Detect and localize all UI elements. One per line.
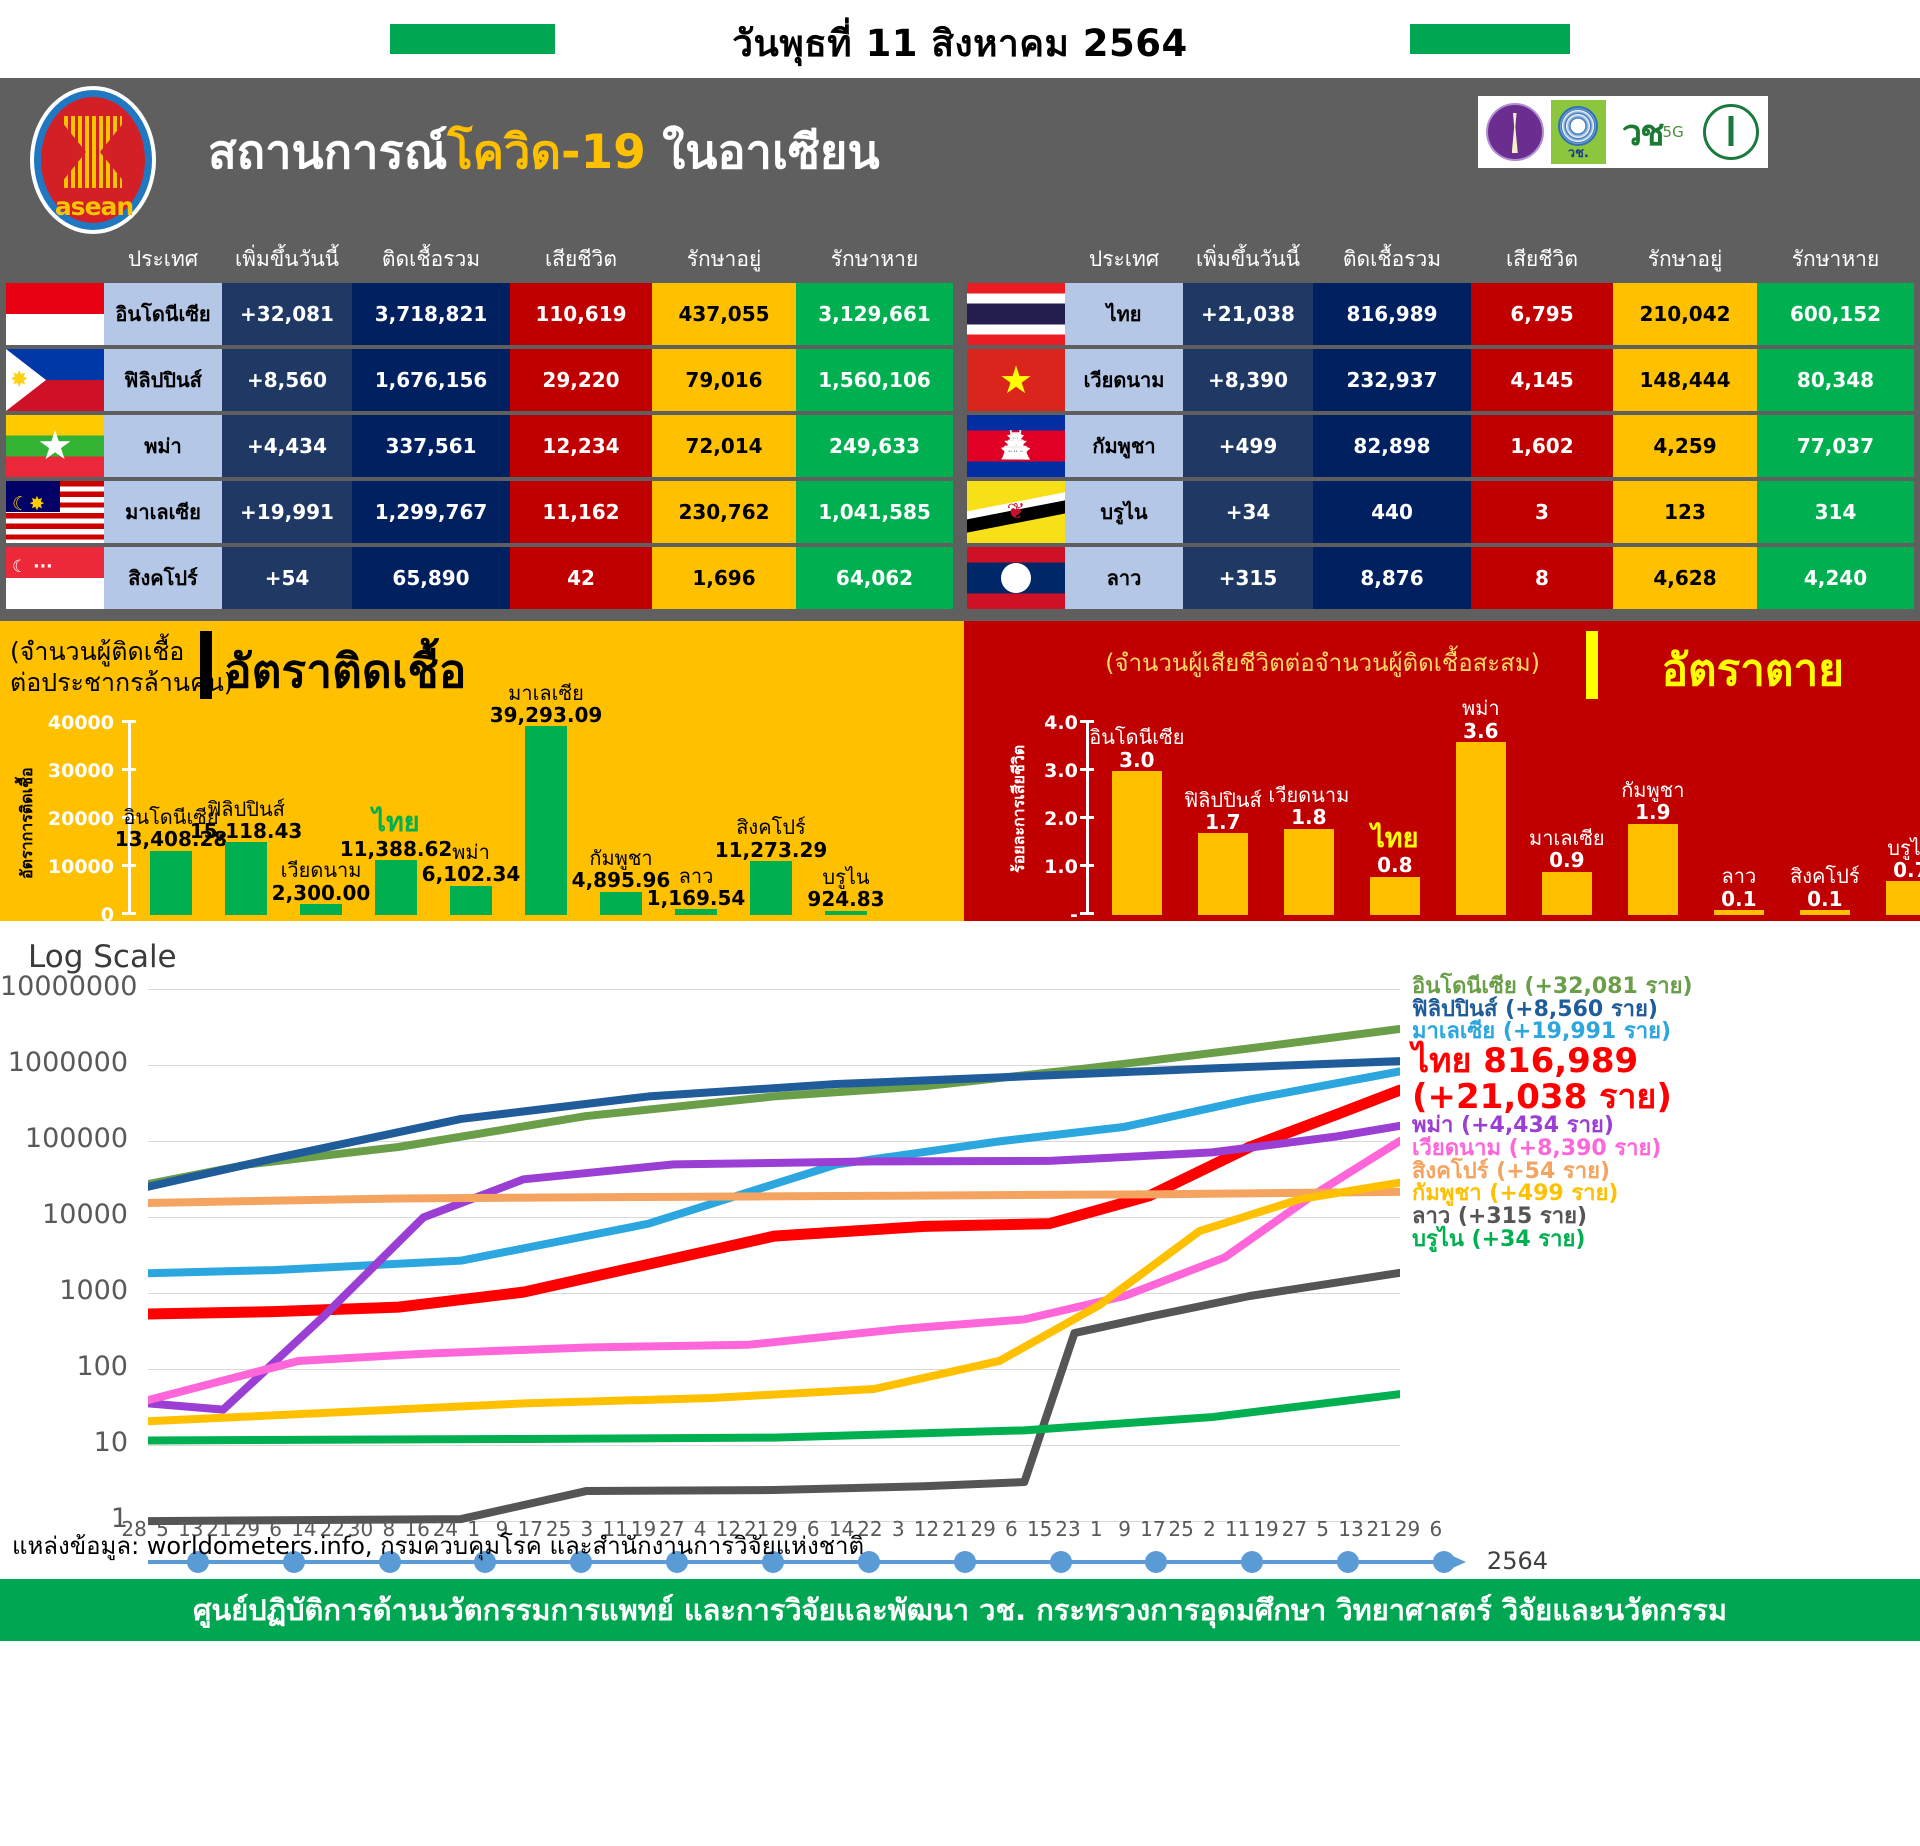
table-row: อินโดนีเซีย+32,0813,718,821110,619437,05… xyxy=(6,283,953,345)
cell-country: เวียดนาม xyxy=(1065,349,1183,411)
country-flag-icon xyxy=(967,415,1065,477)
legend-label: ลาว (+315 ราย) xyxy=(1412,1206,1587,1229)
x-tick-label: 1 xyxy=(1090,1517,1103,1541)
timeline-dot xyxy=(1337,1551,1359,1573)
bar-10: บรูไน0.7 xyxy=(1886,881,1920,915)
legend-label-2: (+21,038 ราย) xyxy=(1412,1080,1672,1116)
bar-rect xyxy=(225,842,267,915)
x-tick-label: 27 xyxy=(1282,1517,1307,1541)
col-flag-left xyxy=(6,276,104,279)
bar-value: 0.1 xyxy=(1721,887,1756,911)
table-row: มาเลเซีย+19,9911,299,76711,162230,7621,0… xyxy=(6,481,953,543)
log-y-tick-label: 10000 xyxy=(0,1199,128,1230)
table-row: สิงคโปร์+5465,890421,69664,062 xyxy=(6,547,953,609)
top-strip: วันพุธที่ 11 สิงหาคม 2564 xyxy=(0,0,1920,78)
bar-value: 11,273.29 xyxy=(715,838,828,862)
country-flag-icon xyxy=(967,349,1065,411)
col-total-left: ติดเชื้อรวม xyxy=(352,243,510,279)
bar-country-name: กัมพูชา xyxy=(1621,779,1684,801)
vch-5g-logo-icon: วช5G xyxy=(1610,100,1695,164)
bar-country-name: ลาว xyxy=(647,865,746,887)
cell-country: บรูไน xyxy=(1065,481,1183,543)
log-chart-legend: อินโดนีเซีย (+32,081 ราย)ฟิลิปปินส์ (+8,… xyxy=(1412,976,1912,1251)
x-tick-label: 25 xyxy=(1168,1517,1193,1541)
bar-5: พม่า6,102.34 xyxy=(450,886,492,915)
table-header-row-left: ประเทศ เพิ่มขึ้นวันนี้ ติดเชื้อรวม เสียช… xyxy=(6,243,953,279)
bar-3: เวียดนาม1.8 xyxy=(1284,829,1334,915)
bar-label: พม่า3.6 xyxy=(1462,697,1500,742)
ddc-moph-logo-icon xyxy=(1699,100,1763,164)
infection-title-accent xyxy=(200,631,212,699)
bar-rect xyxy=(1456,742,1506,915)
cell-active: 210,042 xyxy=(1613,283,1757,345)
legend-item: สิงคโปร์ (+54 ราย) xyxy=(1412,1161,1912,1184)
x-tick-label: 11 xyxy=(1225,1517,1250,1541)
stats-table-left: ประเทศ เพิ่มขึ้นวันนี้ ติดเชื้อรวม เสียช… xyxy=(6,243,953,609)
col-deaths-right: เสียชีวิต xyxy=(1471,243,1613,279)
source-note: แหล่งข้อมูล: worldometers.info, กรมควบคุ… xyxy=(12,1526,864,1565)
bar-label: ไทย0.8 xyxy=(1371,824,1418,877)
log-y-tick-label: 100000 xyxy=(0,1123,128,1154)
cell-new-cases: +54 xyxy=(222,547,352,609)
col-country-right: ประเทศ xyxy=(1065,243,1183,279)
bar-rect xyxy=(300,904,342,915)
legend-item: บรูไน (+34 ราย) xyxy=(1412,1229,1912,1252)
timeline-dot xyxy=(954,1551,976,1573)
cell-new-cases: +32,081 xyxy=(222,283,352,345)
bar-label: อินโดนีเซีย3.0 xyxy=(1089,726,1184,771)
bar-label: ฟิลิปปินส์15,118.43 xyxy=(190,798,303,843)
cell-recovered: 77,037 xyxy=(1757,415,1914,477)
country-flag-icon xyxy=(6,283,104,345)
bar-rect xyxy=(1628,824,1678,915)
bar-country-name: เวียดนาม xyxy=(272,859,371,881)
bar-country-name: พม่า xyxy=(422,841,521,863)
x-tick-label: 19 xyxy=(1253,1517,1278,1541)
country-flag-icon xyxy=(6,547,104,609)
cell-recovered: 1,041,585 xyxy=(796,481,953,543)
series-line-สิงคโปร์ xyxy=(148,1192,1400,1203)
bar-label: ลาว0.1 xyxy=(1721,865,1756,910)
x-tick-label: 3 xyxy=(892,1517,905,1541)
col-total-right: ติดเชื้อรวม xyxy=(1313,243,1471,279)
cell-total-cases: 82,898 xyxy=(1313,415,1471,477)
cell-deaths: 3 xyxy=(1471,481,1613,543)
bar-5: พม่า3.6 xyxy=(1456,742,1506,915)
x-tick-label: 21 xyxy=(1367,1517,1392,1541)
x-tick-label: 23 xyxy=(1055,1517,1080,1541)
bar-value: 0.8 xyxy=(1377,853,1412,877)
cell-active: 437,055 xyxy=(652,283,796,345)
infection-rate-title: อัตราติดเชื้อ xyxy=(224,635,466,708)
cell-total-cases: 1,676,156 xyxy=(352,349,510,411)
header-bar: asean สถานการณ์โควิด-19 ในอาเซียน วช. วช… xyxy=(0,78,1920,243)
page-title-highlight: โควิด-19 xyxy=(447,125,646,180)
col-country-left: ประเทศ xyxy=(104,243,222,279)
legend-item: ฟิลิปปินส์ (+8,560 ราย) xyxy=(1412,999,1912,1022)
bar-rect xyxy=(825,911,867,915)
cell-active: 4,628 xyxy=(1613,547,1757,609)
cell-active: 148,444 xyxy=(1613,349,1757,411)
vch-logo-5g: 5G xyxy=(1663,123,1684,141)
cell-active: 4,259 xyxy=(1613,415,1757,477)
bar-rect xyxy=(1370,877,1420,915)
cell-country: มาเลเซีย xyxy=(104,481,222,543)
bar-rect xyxy=(450,886,492,915)
bar-label: มาเลเซีย0.9 xyxy=(1529,827,1605,872)
timeline-dot xyxy=(1145,1551,1167,1573)
col-new-right: เพิ่มขึ้นวันนี้ xyxy=(1183,243,1313,279)
rate-panels: (จำนวนผู้ติดเชื้อต่อประชากรล้านคน) อัตรา… xyxy=(0,621,1920,921)
cumulative-cases-log-chart: Log Scale 100000001000000100000100001000… xyxy=(0,921,1920,1641)
cell-recovered: 314 xyxy=(1757,481,1914,543)
col-deaths-left: เสียชีวิต xyxy=(510,243,652,279)
table-row: พม่า+4,434337,56112,23472,014249,633 xyxy=(6,415,953,477)
legend-label: พม่า (+4,434 ราย) xyxy=(1412,1115,1614,1138)
bar-4: ไทย11,388.62 xyxy=(375,860,417,915)
cell-total-cases: 3,718,821 xyxy=(352,283,510,345)
bar-1: อินโดนีเซีย3.0 xyxy=(1112,771,1162,915)
footer-text: ศูนย์ปฏิบัติการด้านนวัตกรรมการแพทย์ และก… xyxy=(193,1587,1727,1633)
bar-rect xyxy=(375,860,417,915)
bar-10: บรูไน924.83 xyxy=(825,911,867,915)
bar-country-name: อินโดนีเซีย xyxy=(1089,726,1184,748)
x-tick-label: 6 xyxy=(1429,1517,1442,1541)
timeline-year-end: 2564 xyxy=(1487,1547,1548,1575)
cell-deaths: 12,234 xyxy=(510,415,652,477)
bar-value: 0.1 xyxy=(1807,887,1842,911)
bar-value: 15,118.43 xyxy=(190,819,303,843)
legend-item: อินโดนีเซีย (+32,081 ราย) xyxy=(1412,976,1912,999)
bar-value: 1.7 xyxy=(1205,810,1240,834)
col-active-right: รักษาอยู่ xyxy=(1613,243,1757,279)
cell-active: 79,016 xyxy=(652,349,796,411)
cell-total-cases: 8,876 xyxy=(1313,547,1471,609)
x-tick-label: 21 xyxy=(942,1517,967,1541)
cell-deaths: 11,162 xyxy=(510,481,652,543)
bar-label: กัมพูชา1.9 xyxy=(1621,779,1684,824)
bar-rect xyxy=(1886,881,1920,915)
bar-value: 3.6 xyxy=(1463,719,1498,743)
nrct-logo-label: วช. xyxy=(1551,142,1607,163)
table-row: ฟิลิปปินส์+8,5601,676,15629,22079,0161,5… xyxy=(6,349,953,411)
country-flag-icon xyxy=(967,283,1065,345)
bar-label: เวียดนาม1.8 xyxy=(1268,784,1349,829)
cell-country: กัมพูชา xyxy=(1065,415,1183,477)
cell-recovered: 3,129,661 xyxy=(796,283,953,345)
cell-new-cases: +8,560 xyxy=(222,349,352,411)
bar-value: 1.8 xyxy=(1291,805,1326,829)
bar-4: ไทย0.8 xyxy=(1370,877,1420,915)
cell-deaths: 8 xyxy=(1471,547,1613,609)
cell-country: ฟิลิปปินส์ xyxy=(104,349,222,411)
bar-7: กัมพูชา1.9 xyxy=(1628,824,1678,915)
cell-new-cases: +21,038 xyxy=(1183,283,1313,345)
bar-label: บรูไน0.7 xyxy=(1887,837,1920,882)
legend-item: กัมพูชา (+499 ราย) xyxy=(1412,1183,1912,1206)
bar-label: ลาว1,169.54 xyxy=(647,865,746,910)
timeline-dot xyxy=(1050,1551,1072,1573)
cell-country: อินโดนีเซีย xyxy=(104,283,222,345)
cell-recovered: 4,240 xyxy=(1757,547,1914,609)
x-tick-label: 9 xyxy=(1118,1517,1131,1541)
cell-deaths: 6,795 xyxy=(1471,283,1613,345)
bar-rect xyxy=(150,851,192,915)
col-flag-right xyxy=(967,276,1065,279)
cell-active: 72,014 xyxy=(652,415,796,477)
timeline-dot xyxy=(1241,1551,1263,1573)
table-row: ลาว+3158,87684,6284,240 xyxy=(967,547,1914,609)
legend-label: เวียดนาม (+8,390 ราย) xyxy=(1412,1138,1661,1161)
page-title-suffix: ในอาเซียน xyxy=(646,125,880,180)
legend-label: ไทย 816,989 xyxy=(1412,1044,1672,1080)
table-row: เวียดนาม+8,390232,9374,145148,44480,348 xyxy=(967,349,1914,411)
bar-6: มาเลเซีย0.9 xyxy=(1542,872,1592,915)
page-title: สถานการณ์โควิด-19 ในอาเซียน xyxy=(208,114,880,189)
bar-value: 39,293.09 xyxy=(490,703,603,727)
bar-7: กัมพูชา4,895.96 xyxy=(600,892,642,916)
bar-value: 924.83 xyxy=(807,887,884,911)
col-recovered-left: รักษาหาย xyxy=(796,243,953,279)
x-tick-label: 5 xyxy=(1316,1517,1329,1541)
cell-active: 230,762 xyxy=(652,481,796,543)
country-flag-icon xyxy=(6,415,104,477)
bar-rect xyxy=(525,726,567,915)
death-rate-subtitle: (จำนวนผู้เสียชีวิตต่อจำนวนผู้ติดเชื้อสะส… xyxy=(1105,643,1540,682)
footer-bar: ศูนย์ปฏิบัติการด้านนวัตกรรมการแพทย์ และก… xyxy=(0,1579,1920,1641)
death-rate-panel: (จำนวนผู้เสียชีวิตต่อจำนวนผู้ติดเชื้อสะส… xyxy=(964,621,1920,921)
bar-value: 0.9 xyxy=(1549,848,1584,872)
table-row: ❦บรูไน+344403123314 xyxy=(967,481,1914,543)
x-tick-label: 13 xyxy=(1338,1517,1363,1541)
legend-label: อินโดนีเซีย (+32,081 ราย) xyxy=(1412,976,1693,999)
bar-rect xyxy=(1284,829,1334,915)
bar-value: 2,300.00 xyxy=(272,881,371,905)
bar-label: สิงคโปร์11,273.29 xyxy=(715,816,828,861)
death-rate-bars: อินโดนีเซีย3.0ฟิลิปปินส์1.7เวียดนาม1.8ไท… xyxy=(964,723,1920,915)
legend-label: บรูไน (+34 ราย) xyxy=(1412,1229,1585,1252)
country-flag-icon xyxy=(6,481,104,543)
bar-rect xyxy=(1800,910,1850,915)
bar-label: เวียดนาม2,300.00 xyxy=(272,859,371,904)
log-y-tick-label: 1000 xyxy=(0,1275,128,1306)
bar-value: 3.0 xyxy=(1119,748,1154,772)
bar-country-name: สิงคโปร์ xyxy=(1790,865,1860,887)
asean-logo-wordmark: asean xyxy=(42,192,146,221)
legend-label: สิงคโปร์ (+54 ราย) xyxy=(1412,1161,1610,1184)
x-tick-label: 29 xyxy=(970,1517,995,1541)
cell-new-cases: +8,390 xyxy=(1183,349,1313,411)
bar-country-name: มาเลเซีย xyxy=(490,682,603,704)
bar-2: ฟิลิปปินส์15,118.43 xyxy=(225,842,267,915)
stats-table-right: ประเทศ เพิ่มขึ้นวันนี้ ติดเชื้อรวม เสียช… xyxy=(967,243,1914,609)
table-row: กัมพูชา+49982,8981,6024,25977,037 xyxy=(967,415,1914,477)
country-flag-icon xyxy=(6,349,104,411)
bar-rect xyxy=(675,909,717,915)
vch-logo-text: วช xyxy=(1622,104,1663,161)
col-new-left: เพิ่มขึ้นวันนี้ xyxy=(222,243,352,279)
table-row: ไทย+21,038816,9896,795210,042600,152 xyxy=(967,283,1914,345)
x-tick-label: 15 xyxy=(1027,1517,1052,1541)
bar-country-name: เวียดนาม xyxy=(1268,784,1349,806)
death-rate-title: อัตราตาย xyxy=(1662,635,1844,705)
bar-country-name: ลาว xyxy=(1721,865,1756,887)
cell-active: 1,696 xyxy=(652,547,796,609)
cell-total-cases: 65,890 xyxy=(352,547,510,609)
bar-rect xyxy=(1112,771,1162,915)
bar-value: 1.9 xyxy=(1635,800,1670,824)
bar-2: ฟิลิปปินส์1.7 xyxy=(1198,833,1248,915)
cell-recovered: 80,348 xyxy=(1757,349,1914,411)
bar-rect xyxy=(1198,833,1248,915)
legend-label: ฟิลิปปินส์ (+8,560 ราย) xyxy=(1412,999,1658,1022)
cell-deaths: 29,220 xyxy=(510,349,652,411)
country-flag-icon xyxy=(967,547,1065,609)
col-recovered-right: รักษาหาย xyxy=(1757,243,1914,279)
bar-3: เวียดนาม2,300.00 xyxy=(300,904,342,915)
cell-deaths: 110,619 xyxy=(510,283,652,345)
death-title-accent xyxy=(1586,631,1598,699)
bar-label: สิงคโปร์0.1 xyxy=(1790,865,1860,910)
bar-label: บรูไน924.83 xyxy=(807,866,884,911)
infection-rate-bars: อินโดนีเซีย13,408.28ฟิลิปปินส์15,118.43เ… xyxy=(0,723,964,915)
legend-item: เวียดนาม (+8,390 ราย) xyxy=(1412,1138,1912,1161)
cell-recovered: 249,633 xyxy=(796,415,953,477)
x-tick-label: 2 xyxy=(1203,1517,1216,1541)
page-title-prefix: สถานการณ์ xyxy=(208,125,447,180)
cell-recovered: 64,062 xyxy=(796,547,953,609)
cell-new-cases: +499 xyxy=(1183,415,1313,477)
bar-label: พม่า6,102.34 xyxy=(422,841,521,886)
series-line-บรูไน xyxy=(148,1394,1400,1440)
bar-country-name: ไทย xyxy=(1371,824,1418,854)
legend-label: กัมพูชา (+499 ราย) xyxy=(1412,1183,1618,1206)
cell-total-cases: 232,937 xyxy=(1313,349,1471,411)
country-flag-icon: ❦ xyxy=(967,481,1065,543)
cell-total-cases: 816,989 xyxy=(1313,283,1471,345)
country-stats-tables: ประเทศ เพิ่มขึ้นวันนี้ ติดเชื้อรวม เสียช… xyxy=(0,243,1920,621)
bar-value: 6,102.34 xyxy=(422,862,521,886)
bar-rect xyxy=(600,892,642,916)
log-y-tick-label: 10 xyxy=(0,1427,128,1458)
cell-country: สิงคโปร์ xyxy=(104,547,222,609)
timeline-dot xyxy=(1433,1551,1455,1573)
infection-rate-panel: (จำนวนผู้ติดเชื้อต่อประชากรล้านคน) อัตรา… xyxy=(0,621,964,921)
bar-country-name: สิงคโปร์ xyxy=(715,816,828,838)
cell-recovered: 600,152 xyxy=(1757,283,1914,345)
asean-logo-icon: asean xyxy=(20,86,168,236)
bar-value: 1,169.54 xyxy=(647,886,746,910)
bar-country-name: บรูไน xyxy=(807,866,884,888)
bar-9: สิงคโปร์0.1 xyxy=(1800,910,1850,915)
legend-item: ลาว (+315 ราย) xyxy=(1412,1206,1912,1229)
bar-9: สิงคโปร์11,273.29 xyxy=(750,861,792,915)
cell-deaths: 4,145 xyxy=(1471,349,1613,411)
page-date-title: วันพุธที่ 11 สิงหาคม 2564 xyxy=(0,14,1920,73)
bar-country-name: ฟิลิปปินส์ xyxy=(1184,789,1262,811)
bar-label: ฟิลิปปินส์1.7 xyxy=(1184,789,1262,834)
cell-active: 123 xyxy=(1613,481,1757,543)
series-line-มาเลเซีย xyxy=(148,1071,1400,1273)
cell-total-cases: 1,299,767 xyxy=(352,481,510,543)
x-tick-label: 12 xyxy=(914,1517,939,1541)
cell-deaths: 42 xyxy=(510,547,652,609)
bar-rect xyxy=(1714,910,1764,915)
x-tick-label: 6 xyxy=(1005,1517,1018,1541)
log-scale-label: Log Scale xyxy=(28,939,177,975)
bar-country-name: มาเลเซีย xyxy=(1529,827,1605,849)
legend-item: ไทย 816,989(+21,038 ราย) xyxy=(1412,1044,1912,1115)
bar-6: มาเลเซีย39,293.09 xyxy=(525,726,567,915)
nrct-logo-icon: วช. xyxy=(1551,100,1607,164)
bar-value: 0.7 xyxy=(1893,858,1920,882)
bar-country-name: บรูไน xyxy=(1887,837,1920,859)
log-y-tick-label: 1000000 xyxy=(0,1047,128,1078)
bar-1: อินโดนีเซีย13,408.28 xyxy=(150,851,192,915)
log-y-tick-label: 100 xyxy=(0,1351,128,1382)
cell-total-cases: 337,561 xyxy=(352,415,510,477)
mahidol-logo-icon xyxy=(1483,100,1547,164)
cell-new-cases: +19,991 xyxy=(222,481,352,543)
cell-new-cases: +315 xyxy=(1183,547,1313,609)
bar-country-name: พม่า xyxy=(1462,697,1500,719)
cell-new-cases: +4,434 xyxy=(222,415,352,477)
cell-country: ไทย xyxy=(1065,283,1183,345)
cell-country: พม่า xyxy=(104,415,222,477)
partner-logos: วช. วช5G xyxy=(1478,96,1768,168)
bar-country-name: ฟิลิปปินส์ xyxy=(190,798,303,820)
cell-recovered: 1,560,106 xyxy=(796,349,953,411)
bar-country-name: ไทย xyxy=(340,808,453,838)
bar-rect xyxy=(750,861,792,915)
cell-new-cases: +34 xyxy=(1183,481,1313,543)
bar-rect xyxy=(1542,872,1592,915)
log-y-tick-label: 10000000 xyxy=(0,971,128,1002)
table-header-row-right: ประเทศ เพิ่มขึ้นวันนี้ ติดเชื้อรวม เสียช… xyxy=(967,243,1914,279)
bar-8: ลาว1,169.54 xyxy=(675,909,717,915)
cell-country: ลาว xyxy=(1065,547,1183,609)
legend-item: พม่า (+4,434 ราย) xyxy=(1412,1115,1912,1138)
cell-deaths: 1,602 xyxy=(1471,415,1613,477)
bar-8: ลาว0.1 xyxy=(1714,910,1764,915)
col-active-left: รักษาอยู่ xyxy=(652,243,796,279)
cell-total-cases: 440 xyxy=(1313,481,1471,543)
x-tick-label: 17 xyxy=(1140,1517,1165,1541)
x-tick-label: 29 xyxy=(1395,1517,1420,1541)
bar-label: มาเลเซีย39,293.09 xyxy=(490,682,603,727)
